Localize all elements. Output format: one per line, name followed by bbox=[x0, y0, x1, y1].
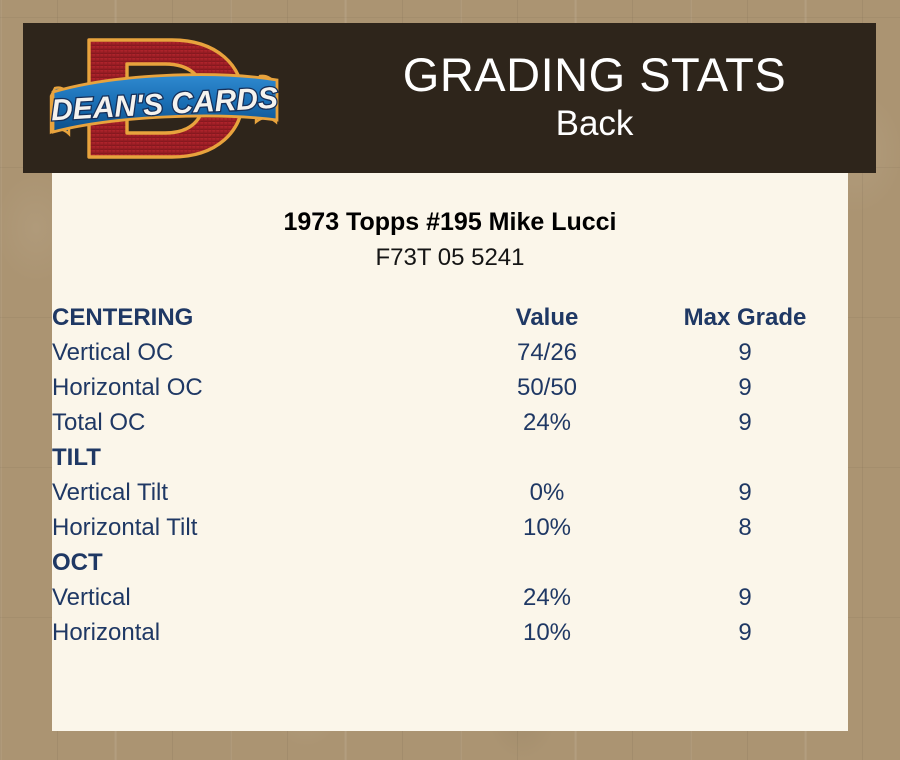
column-header-max-grade: Max Grade bbox=[642, 301, 848, 336]
section-header-oct: OCT bbox=[52, 546, 848, 581]
stat-label: Horizontal Tilt bbox=[52, 511, 452, 546]
table-row: Horizontal Tilt 10% 8 bbox=[52, 511, 848, 546]
stat-value: 74/26 bbox=[452, 336, 642, 371]
card-title: 1973 Topps #195 Mike Lucci bbox=[52, 207, 848, 237]
stat-value: 24% bbox=[452, 406, 642, 441]
stat-label: Total OC bbox=[52, 406, 452, 441]
grading-stats-table: CENTERING Value Max Grade Vertical OC 74… bbox=[52, 301, 848, 651]
stat-grade: 9 bbox=[642, 476, 848, 511]
stat-label: Vertical bbox=[52, 581, 452, 616]
stat-value: 24% bbox=[452, 581, 642, 616]
stat-value: 0% bbox=[452, 476, 642, 511]
stat-grade: 9 bbox=[642, 371, 848, 406]
table-row: Vertical Tilt 0% 9 bbox=[52, 476, 848, 511]
card-serial-number: F73T 05 5241 bbox=[52, 244, 848, 273]
section-label: OCT bbox=[52, 546, 452, 581]
stat-value: 50/50 bbox=[452, 371, 642, 406]
stat-grade: 9 bbox=[642, 581, 848, 616]
card-info: 1973 Topps #195 Mike Lucci F73T 05 5241 bbox=[52, 173, 848, 273]
stat-value: 10% bbox=[452, 616, 642, 651]
section-header-tilt: TILT bbox=[52, 441, 848, 476]
stat-value: 10% bbox=[452, 511, 642, 546]
stat-grade: 9 bbox=[642, 336, 848, 371]
table-row: Horizontal 10% 9 bbox=[52, 616, 848, 651]
table-row: Vertical OC 74/26 9 bbox=[52, 336, 848, 371]
stat-grade: 9 bbox=[642, 406, 848, 441]
stat-grade: 8 bbox=[642, 511, 848, 546]
section-spacer bbox=[452, 441, 642, 476]
column-header-value: Value bbox=[452, 301, 642, 336]
section-spacer bbox=[642, 441, 848, 476]
stat-label: Vertical OC bbox=[52, 336, 452, 371]
page-title: GRADING STATS bbox=[403, 50, 786, 100]
stat-grade: 9 bbox=[642, 616, 848, 651]
stat-label: Horizontal bbox=[52, 616, 452, 651]
header-bar: DEAN'S CARDS GRADING STATS Back bbox=[23, 23, 876, 173]
section-spacer bbox=[452, 546, 642, 581]
table-row: Horizontal OC 50/50 9 bbox=[52, 371, 848, 406]
page-subtitle: Back bbox=[556, 102, 634, 146]
table-header-row: CENTERING Value Max Grade bbox=[52, 301, 848, 336]
stat-label: Horizontal OC bbox=[52, 371, 452, 406]
header-title-group: GRADING STATS Back bbox=[313, 23, 876, 173]
stat-label: Vertical Tilt bbox=[52, 476, 452, 511]
table-row: Vertical 24% 9 bbox=[52, 581, 848, 616]
table-row: Total OC 24% 9 bbox=[52, 406, 848, 441]
section-spacer bbox=[642, 546, 848, 581]
section-label: TILT bbox=[52, 441, 452, 476]
deans-cards-logo[interactable]: DEAN'S CARDS bbox=[47, 26, 312, 171]
column-header-centering: CENTERING bbox=[52, 301, 452, 336]
content-panel: 1973 Topps #195 Mike Lucci F73T 05 5241 … bbox=[52, 173, 848, 731]
